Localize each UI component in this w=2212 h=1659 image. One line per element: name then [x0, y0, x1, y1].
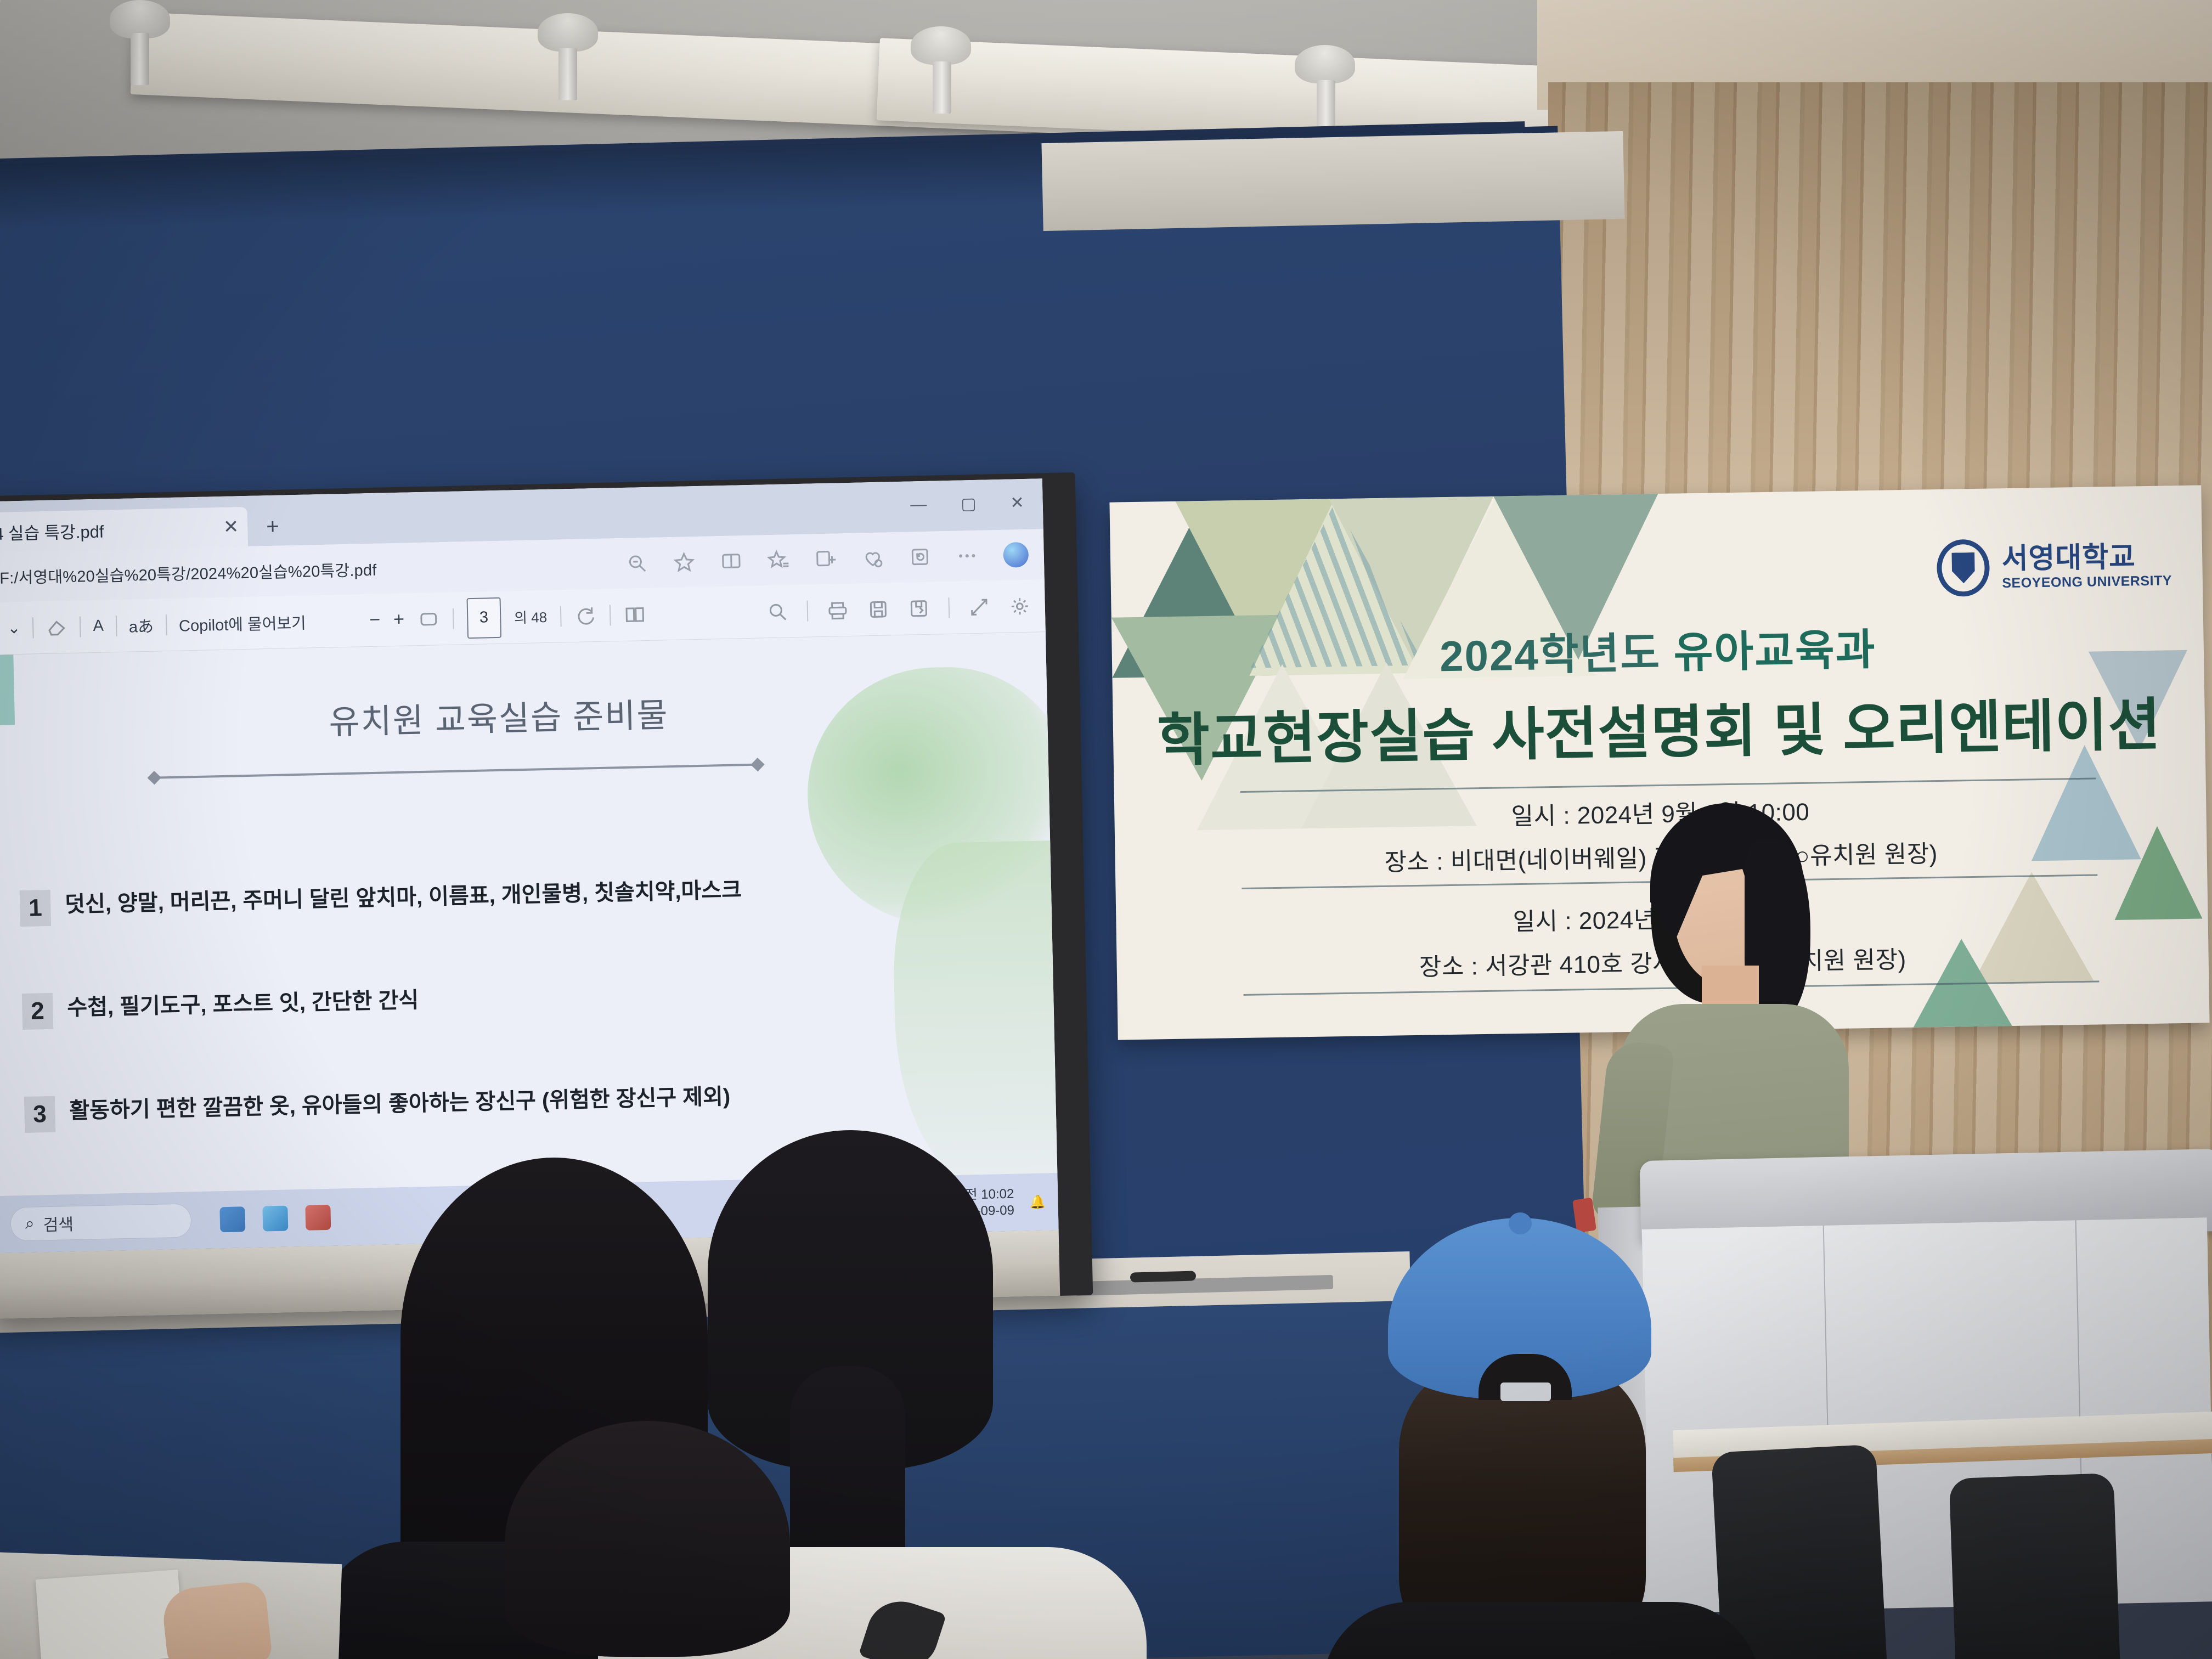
toolbar-divider-1	[32, 617, 34, 638]
save-icon[interactable]	[867, 598, 889, 620]
toolbar-divider-6	[560, 606, 562, 627]
taskbar-pinned-apps[interactable]	[219, 1205, 331, 1232]
notebook-paper	[36, 1570, 184, 1659]
browser-tab[interactable]: 2024 실습 특강.pdf ✕	[0, 507, 248, 553]
toolbar-divider-2	[80, 616, 81, 637]
bullet-text: 활동하기 편한 깔끔한 옷, 유아들의 좋아하는 장신구 (위험한 장신구 제외…	[69, 1081, 731, 1123]
zoom-in-button[interactable]: +	[393, 609, 405, 630]
baseball-cap-button	[1509, 1212, 1532, 1234]
crest-shield-shape	[1951, 552, 1975, 584]
ceiling-mount-cone-3	[911, 26, 971, 65]
close-icon[interactable]: ✕	[223, 516, 239, 538]
chevron-down-icon[interactable]: ⌄	[7, 618, 21, 638]
address-bar-url[interactable]: F:/서영대%20실습%20특강/2024%20실습%20특강.pdf	[0, 557, 377, 589]
page-layout-icon[interactable]	[624, 603, 646, 626]
settings-gear-icon[interactable]	[1008, 595, 1031, 617]
list-item: 1 덧신, 양말, 머리끈, 주머니 달린 앞치마, 이름표, 개인물병, 칫솔…	[20, 868, 1019, 927]
taskbar-app-icon-3[interactable]	[305, 1205, 331, 1231]
taskbar-app-icon-2[interactable]	[262, 1206, 288, 1232]
print-icon[interactable]	[826, 599, 849, 621]
chair-right	[1949, 1473, 2122, 1659]
university-crest-icon	[1937, 539, 1990, 597]
ceiling-mount-bracket-3	[933, 61, 951, 114]
toolbar-divider-8	[806, 600, 808, 621]
toolbar-divider-3	[115, 616, 117, 636]
window-close-icon[interactable]: ✕	[1010, 493, 1024, 513]
collections-icon[interactable]	[814, 548, 837, 570]
banner-headline-main: 학교현장실습 사전설명회 및 오리엔테이션	[1113, 677, 2205, 777]
toolbar-divider-9	[948, 597, 950, 618]
pdf-toolbar-right-icons[interactable]	[766, 595, 1031, 623]
audience-3-hair	[505, 1421, 790, 1657]
eraser-icon[interactable]	[46, 616, 68, 639]
ceiling-mount-bracket-1	[131, 33, 149, 85]
bullet-number: 1	[20, 890, 51, 927]
bullet-number: 2	[22, 993, 53, 1030]
pdf-slide-page: 유치원 교육실습 준비물 1 덧신, 양말, 머리끈, 주머니 달린 앞치마, …	[0, 632, 1057, 1197]
bullet-number: 3	[24, 1096, 55, 1133]
translate-icon[interactable]: aあ	[128, 613, 154, 637]
favorites-heart-icon[interactable]	[861, 547, 884, 569]
search-input[interactable]: ⌕ 검색	[10, 1203, 191, 1241]
lecture-hall-scene: 서영대학교 SEOYEONG UNIVERSITY 2024학년도 유아교육과 …	[0, 0, 2212, 1659]
toolbar-divider-5	[453, 608, 454, 629]
slide-title-divider	[154, 764, 758, 779]
search-placeholder: 검색	[43, 1211, 74, 1235]
split-screen-icon[interactable]	[720, 550, 742, 572]
minimize-icon[interactable]: —	[910, 495, 927, 515]
page-number-input[interactable]: 3	[466, 597, 501, 638]
audience-4-shoulders	[1322, 1602, 1761, 1659]
banner-year-text: 2024학년도	[1440, 629, 1674, 681]
fullscreen-icon[interactable]	[968, 596, 990, 618]
maximize-icon[interactable]: ▢	[961, 494, 977, 514]
browser-toolbar-icons[interactable]	[625, 542, 1029, 576]
bullet-text: 수첩, 필기도구, 포스트 잇, 간단한 간식	[67, 985, 419, 1020]
rotate-icon[interactable]	[574, 605, 597, 627]
toolbar-divider-4	[166, 614, 167, 635]
whiteboard-marker	[1130, 1271, 1196, 1282]
chair-left	[1711, 1444, 1888, 1659]
fit-page-icon[interactable]	[417, 608, 440, 630]
save-as-icon[interactable]	[907, 597, 930, 619]
history-icon[interactable]	[909, 546, 931, 568]
university-name-korean: 서영대학교	[2001, 542, 2171, 573]
baseball-cap-strap	[1500, 1383, 1551, 1401]
more-options-icon[interactable]	[956, 545, 978, 567]
pdf-page-controls[interactable]: − + 3 의 48	[369, 594, 646, 641]
ceiling-mount-bracket-4	[1317, 80, 1335, 132]
bullet-text: 덧신, 양말, 머리끈, 주머니 달린 앞치마, 이름표, 개인물병, 칫솔치약…	[65, 874, 742, 917]
audience-person-4	[1355, 1218, 1706, 1659]
list-item: 2 수첩, 필기도구, 포스트 잇, 간단한 간식	[22, 972, 1021, 1030]
banner-department-text: 유아교육과	[1673, 625, 1876, 677]
new-tab-button[interactable]: +	[247, 514, 298, 540]
list-item: 3 활동하기 편한 깔끔한 옷, 유아들의 좋아하는 장신구 (위험한 장신구 …	[24, 1075, 1023, 1133]
audience-person-3	[483, 1421, 823, 1659]
ask-copilot-button[interactable]: Copilot에 물어보기	[179, 610, 307, 636]
draw-tool-label: 그리기	[0, 617, 2, 641]
zoom-icon[interactable]	[626, 552, 648, 574]
favorite-star-icon[interactable]	[673, 551, 695, 573]
zoom-out-button[interactable]: −	[369, 610, 381, 631]
taskbar-app-icon-1[interactable]	[219, 1206, 245, 1232]
copilot-icon[interactable]	[1003, 542, 1029, 568]
read-aloud-icon[interactable]: A	[93, 617, 104, 635]
add-favorite-icon[interactable]	[767, 549, 789, 571]
ceiling-mount-cone-4	[1295, 45, 1355, 83]
page-total-label: 의 48	[514, 606, 548, 627]
search-icon: ⌕	[25, 1215, 35, 1233]
window-controls[interactable]: — ▢ ✕	[910, 493, 1024, 515]
tab-title: 2024 실습 특강.pdf	[0, 517, 104, 545]
wall-soffit	[1041, 131, 1624, 231]
university-name-english: SEOYEONG UNIVERSITY	[2002, 574, 2172, 590]
ceiling-mount-cone-2	[538, 13, 598, 52]
toolbar-divider-7	[610, 605, 611, 625]
draw-tool-button[interactable]: 그리기 ⌄	[0, 616, 21, 640]
search-icon[interactable]	[766, 600, 788, 623]
university-logo: 서영대학교 SEOYEONG UNIVERSITY	[1937, 536, 2172, 597]
ceiling-mount-bracket-2	[558, 48, 577, 100]
